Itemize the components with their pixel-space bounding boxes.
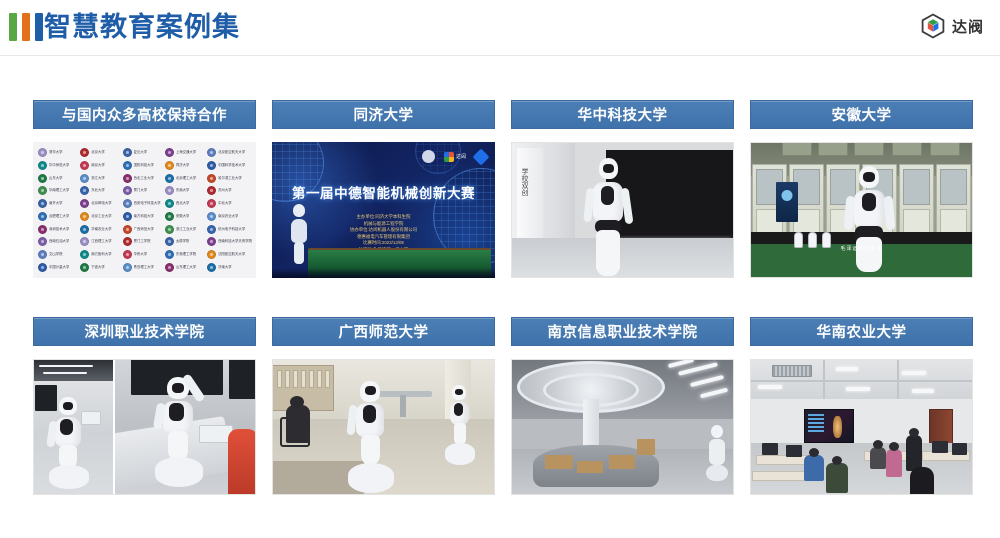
university-logo-item: 同济大学 xyxy=(164,160,205,172)
university-seal-icon xyxy=(165,161,174,170)
university-seal-icon xyxy=(38,199,47,208)
university-seal-icon xyxy=(207,212,216,221)
university-name-label: 宁波大学 xyxy=(91,265,105,270)
university-seal-icon xyxy=(38,212,47,221)
university-seal-icon xyxy=(123,263,132,272)
standing-person xyxy=(870,447,886,469)
university-logo-item: 文山学院 xyxy=(37,249,78,261)
robot-figure xyxy=(842,166,898,272)
university-logo-item: 杭州电子科技大学 xyxy=(206,223,252,235)
university-seal-icon xyxy=(80,161,89,170)
university-seal-icon xyxy=(123,225,132,234)
university-logo-item: 哈尔滨工业大学 xyxy=(206,172,252,184)
university-name-label: 浙江工业大学 xyxy=(176,227,196,232)
university-logo-item: 沈阳航空航天大学 xyxy=(206,249,252,261)
university-logo-item: 西南科技大学天府学院 xyxy=(206,236,252,248)
grid-row-gap xyxy=(33,278,973,317)
split-left-photo xyxy=(33,359,113,495)
university-seal-icon xyxy=(422,150,435,163)
university-seal-icon xyxy=(80,148,89,157)
university-logo-item: 苏州大学 xyxy=(206,185,252,197)
university-logo-item: 宁波大学 xyxy=(79,261,120,273)
university-logo-item: 厦门工学院 xyxy=(122,236,163,248)
university-logo-item: 华南农业大学 xyxy=(79,223,120,235)
university-seal-icon xyxy=(123,174,132,183)
wall-display xyxy=(804,409,854,443)
university-name-label: 山东大学 xyxy=(49,176,63,181)
case-card[interactable]: 广西师范大学 xyxy=(272,317,495,495)
university-seal-icon xyxy=(80,174,89,183)
university-logo-item: 北京工业大学 xyxy=(79,210,120,222)
university-logo-item: 西北工业大学 xyxy=(122,172,163,184)
card-image xyxy=(272,359,495,495)
university-logo-item: 上海交通大学 xyxy=(164,147,205,159)
university-name-label: 厦门大学 xyxy=(134,188,148,193)
university-seal-icon xyxy=(80,263,89,272)
university-logo-item: 浙江大学 xyxy=(79,172,120,184)
university-seal-icon xyxy=(165,212,174,221)
university-name-label: 西安电子科技大学 xyxy=(134,201,161,206)
university-seal-icon xyxy=(38,237,47,246)
university-name-label: 南京大学 xyxy=(91,163,105,168)
university-seal-icon xyxy=(165,174,174,183)
standing-person xyxy=(886,449,902,477)
card-image: 清华大学北京大学复旦大学上海交通大学北京航空航天大学华中师范大学南京大学国防科技… xyxy=(33,142,256,278)
university-seal-icon xyxy=(38,186,47,195)
robot-figure xyxy=(706,425,728,483)
university-name-label: 南方医科大学 xyxy=(91,252,111,257)
computer-classroom-image xyxy=(750,359,973,495)
university-seal-icon xyxy=(207,263,216,272)
university-seal-icon xyxy=(80,186,89,195)
university-logo-item: 西北大学 xyxy=(164,198,205,210)
university-logo-item: 复旦大学 xyxy=(122,147,163,159)
lab-poster xyxy=(776,182,798,222)
university-name-label: 西南石油大学 xyxy=(49,239,69,244)
university-name-label: 中北大学 xyxy=(218,201,232,206)
university-logo-item: 北京邮电大学 xyxy=(79,198,120,210)
robot-in-corridor-image: 学校双创 xyxy=(511,142,734,278)
university-seal-icon xyxy=(38,225,47,234)
university-logo-item: 广西师范大学 xyxy=(122,223,163,235)
company-logo-text: 达阀 xyxy=(952,16,984,37)
card-title: 同济大学 xyxy=(272,100,495,129)
card-title: 深圳职业技术学院 xyxy=(33,317,256,346)
split-right-photo xyxy=(115,359,256,495)
university-seal-icon xyxy=(165,263,174,272)
banner-bottom-shade xyxy=(272,268,495,278)
university-logo-item: 东北大学 xyxy=(79,185,120,197)
university-logo-item: 中国科学技术大学 xyxy=(206,160,252,172)
university-name-label: 东南大学 xyxy=(176,188,190,193)
university-logo-item: 国防科技大学 xyxy=(122,160,163,172)
university-seal-icon xyxy=(165,199,174,208)
university-logo-item: 中国计量大学 xyxy=(37,261,78,273)
corridor-vertical-caption: 学校双创 xyxy=(517,168,529,196)
university-name-label: 南京农业大学 xyxy=(218,214,238,219)
case-card-grid: 与国内众多高校保持合作 清华大学北京大学复旦大学上海交通大学北京航空航天大学华中… xyxy=(33,100,973,495)
university-seal-icon xyxy=(207,148,216,157)
university-logo-item: 中北大学 xyxy=(206,198,252,210)
card-image xyxy=(750,359,973,495)
university-logo-item: 东南大学 xyxy=(164,185,205,197)
university-seal-icon xyxy=(207,186,216,195)
university-logo-item: 山东理工大学 xyxy=(164,261,205,273)
university-name-label: 南开大学 xyxy=(49,201,63,206)
standing-teacher xyxy=(906,435,922,471)
university-seal-icon xyxy=(38,148,47,157)
seated-student xyxy=(286,405,310,443)
two-robots-split-image xyxy=(33,359,256,495)
university-seal-icon xyxy=(207,174,216,183)
university-logo-item: 北京大学 xyxy=(79,147,120,159)
card-title: 华中科技大学 xyxy=(511,100,734,129)
slide-header: 智慧教育案例集 达阀 xyxy=(0,0,1000,56)
university-seal-icon xyxy=(80,199,89,208)
university-seal-icon xyxy=(165,225,174,234)
card-title: 安徽大学 xyxy=(750,100,973,129)
university-name-label: 东莞理工学院 xyxy=(176,252,196,257)
university-logo-item: 厦门大学 xyxy=(122,185,163,197)
university-name-label: 东北大学 xyxy=(91,188,105,193)
university-name-label: 合肥理工大学 xyxy=(49,214,69,219)
university-logo-item: 东莞理工学院 xyxy=(164,249,205,261)
seated-student xyxy=(804,455,824,481)
university-logo-item: 华南理工大学 xyxy=(37,185,78,197)
university-name-label: 太原学院 xyxy=(176,239,190,244)
university-name-label: 广西师范大学 xyxy=(134,227,154,232)
university-name-label: 文山学院 xyxy=(49,252,63,257)
university-logo-item: 南京大学 xyxy=(79,160,120,172)
card-title: 与国内众多高校保持合作 xyxy=(33,100,256,129)
university-name-label: 江西理工大学 xyxy=(91,239,111,244)
banner-sponsor-logos: 达闼 xyxy=(422,150,487,163)
university-name-label: 深圳技术大学 xyxy=(49,227,69,232)
case-card[interactable]: 同济大学 达闼 第一届中德智能机械创新大赛 主办单 xyxy=(272,100,495,278)
university-seal-icon xyxy=(123,161,132,170)
card-image: 学校双创 xyxy=(511,142,734,278)
university-name-label: 清华大学 xyxy=(49,150,63,155)
robot-figure xyxy=(344,381,402,493)
case-card[interactable]: 与国内众多高校保持合作 清华大学北京大学复旦大学上海交通大学北京航空航天大学华中… xyxy=(33,100,256,278)
university-seal-icon xyxy=(207,225,216,234)
robot-in-lab-image: 毛泽运动员命令 xyxy=(750,142,973,278)
company-logo: 达阀 xyxy=(920,13,984,39)
university-name-label: 上海交通大学 xyxy=(176,150,196,155)
slide-page: 智慧教育案例集 达阀 与国内众多高校保持合作 清华大学北京大学复旦大学上海交通大… xyxy=(0,0,1000,538)
university-logo-item: 西南石油大学 xyxy=(37,236,78,248)
competition-banner-image: 达闼 第一届中德智能机械创新大赛 主办单位:同济大学本科生院机械与能源工程学院协… xyxy=(272,142,495,278)
corridor-pillar xyxy=(517,148,543,252)
university-seal-icon xyxy=(80,225,89,234)
card-image: 毛泽运动员命令 xyxy=(750,142,973,278)
page-title: 智慧教育案例集 xyxy=(44,9,240,45)
university-name-label: 国防科技大学 xyxy=(134,163,154,168)
university-seal-icon xyxy=(207,250,216,259)
card-title: 广西师范大学 xyxy=(272,317,495,346)
university-name-label: 山东理工大学 xyxy=(176,265,196,270)
university-name-label: 华南农业大学 xyxy=(91,227,111,232)
university-logo-item: 南方医科大学 xyxy=(79,249,120,261)
university-name-label: 西北工业大学 xyxy=(134,176,154,181)
university-name-label: 浙江大学 xyxy=(91,176,105,181)
university-name-label: 华南理工大学 xyxy=(49,188,69,193)
university-logo-item: 深圳技术大学 xyxy=(37,223,78,235)
card-title: 华南农业大学 xyxy=(750,317,973,346)
university-name-label: 北京工业大学 xyxy=(91,214,111,219)
university-seal-icon xyxy=(38,263,47,272)
card-image xyxy=(511,359,734,495)
case-card[interactable]: 安徽大学 xyxy=(750,100,973,278)
case-card[interactable]: 华中科技大学 学校双创 xyxy=(511,100,734,278)
university-logo-item: 青岛理工大学 xyxy=(122,261,163,273)
university-name-label: 沈阳航空航天大学 xyxy=(218,252,245,257)
university-name-label: 哈尔滨工业大学 xyxy=(218,176,242,181)
university-seal-icon xyxy=(207,161,216,170)
university-seal-icon xyxy=(207,237,216,246)
hexagon-cube-logo-icon xyxy=(920,13,946,39)
university-seal-icon xyxy=(38,250,47,259)
university-seal-icon xyxy=(165,237,174,246)
university-logo-item: 合肥理工大学 xyxy=(37,210,78,222)
case-card[interactable]: 华南农业大学 xyxy=(750,317,973,495)
university-seal-icon xyxy=(123,199,132,208)
university-logo-item: 山东大学 xyxy=(37,172,78,184)
university-logo-item: 江西理工大学 xyxy=(79,236,120,248)
case-card[interactable]: 深圳职业技术学院 xyxy=(33,317,256,495)
university-name-label: 北京航空航天大学 xyxy=(218,150,245,155)
university-logo-item: 安徽大学 xyxy=(164,210,205,222)
university-seal-icon xyxy=(123,237,132,246)
lab-caption: 毛泽运动员命令 xyxy=(750,245,973,252)
university-name-label: 厦门工学院 xyxy=(134,239,151,244)
university-name-label: 中国科学技术大学 xyxy=(218,163,245,168)
university-logo-item: 西安电子科技大学 xyxy=(122,198,163,210)
university-seal-icon xyxy=(165,148,174,157)
university-logo-wall-image: 清华大学北京大学复旦大学上海交通大学北京航空航天大学华中师范大学南京大学国防科技… xyxy=(33,142,256,278)
university-name-label: 复旦大学 xyxy=(134,150,148,155)
university-name-label: 华侨大学 xyxy=(134,252,148,257)
university-name-label: 苏州大学 xyxy=(218,188,232,193)
university-seal-icon xyxy=(165,250,174,259)
university-seal-icon xyxy=(80,237,89,246)
university-logo-item: 浙江工业大学 xyxy=(164,223,205,235)
university-seal-icon xyxy=(123,212,132,221)
university-logo-item: 南方科技大学 xyxy=(122,210,163,222)
robot-figure xyxy=(442,385,478,477)
university-name-label: 北京理工大学 xyxy=(176,176,196,181)
card-title: 南京信息职业技术学院 xyxy=(511,317,734,346)
university-seal-icon xyxy=(38,174,47,183)
university-logo-item: 太原学院 xyxy=(164,236,205,248)
university-seal-icon xyxy=(123,148,132,157)
university-seal-icon xyxy=(123,250,132,259)
university-name-label: 西北大学 xyxy=(176,201,190,206)
university-name-label: 杭州电子科技大学 xyxy=(218,227,245,232)
robot-figure xyxy=(581,158,637,276)
university-name-label: 青岛理工大学 xyxy=(134,265,154,270)
university-name-label: 南方科技大学 xyxy=(134,214,154,219)
card-image xyxy=(33,359,256,495)
university-logo-item: 华侨大学 xyxy=(122,249,163,261)
university-seal-icon xyxy=(123,186,132,195)
robots-classroom-image xyxy=(272,359,495,495)
card-image: 达闼 第一届中德智能机械创新大赛 主办单位:同济大学本科生院机械与能源工程学院协… xyxy=(272,142,495,278)
university-seal-icon xyxy=(80,250,89,259)
university-logo-grid: 清华大学北京大学复旦大学上海交通大学北京航空航天大学华中师范大学南京大学国防科技… xyxy=(33,142,256,278)
university-logo-item: 北京航空航天大学 xyxy=(206,147,252,159)
university-name-label: 中国计量大学 xyxy=(49,265,69,270)
university-name-label: 济南大学 xyxy=(218,265,232,270)
partner-logo-icon xyxy=(473,148,490,165)
university-name-label: 西南科技大学天府学院 xyxy=(218,239,252,244)
university-logo-item: 南京农业大学 xyxy=(206,210,252,222)
university-name-label: 北京邮电大学 xyxy=(91,201,111,206)
brand-accent-bars-icon xyxy=(9,13,43,41)
university-logo-item: 清华大学 xyxy=(37,147,78,159)
university-seal-icon xyxy=(38,161,47,170)
university-name-label: 同济大学 xyxy=(176,163,190,168)
university-logo-item: 南开大学 xyxy=(37,198,78,210)
university-name-label: 华中师范大学 xyxy=(49,163,69,168)
university-logo-item: 济南大学 xyxy=(206,261,252,273)
banner-headline: 第一届中德智能机械创新大赛 xyxy=(272,182,495,202)
person-in-red-shirt xyxy=(228,429,256,495)
university-name-label: 安徽大学 xyxy=(176,214,190,219)
university-name-label: 北京大学 xyxy=(91,150,105,155)
seated-student xyxy=(826,463,848,493)
case-card[interactable]: 南京信息职业技术学院 xyxy=(511,317,734,495)
university-seal-icon xyxy=(165,186,174,195)
university-seal-icon xyxy=(207,199,216,208)
cloudminds-logo-icon: 达闼 xyxy=(444,152,466,162)
circular-hall-image xyxy=(511,359,734,495)
ceiling-vent xyxy=(772,365,812,377)
seated-student xyxy=(910,467,934,495)
university-logo-item: 北京理工大学 xyxy=(164,172,205,184)
university-logo-item: 华中师范大学 xyxy=(37,160,78,172)
university-seal-icon xyxy=(80,212,89,221)
